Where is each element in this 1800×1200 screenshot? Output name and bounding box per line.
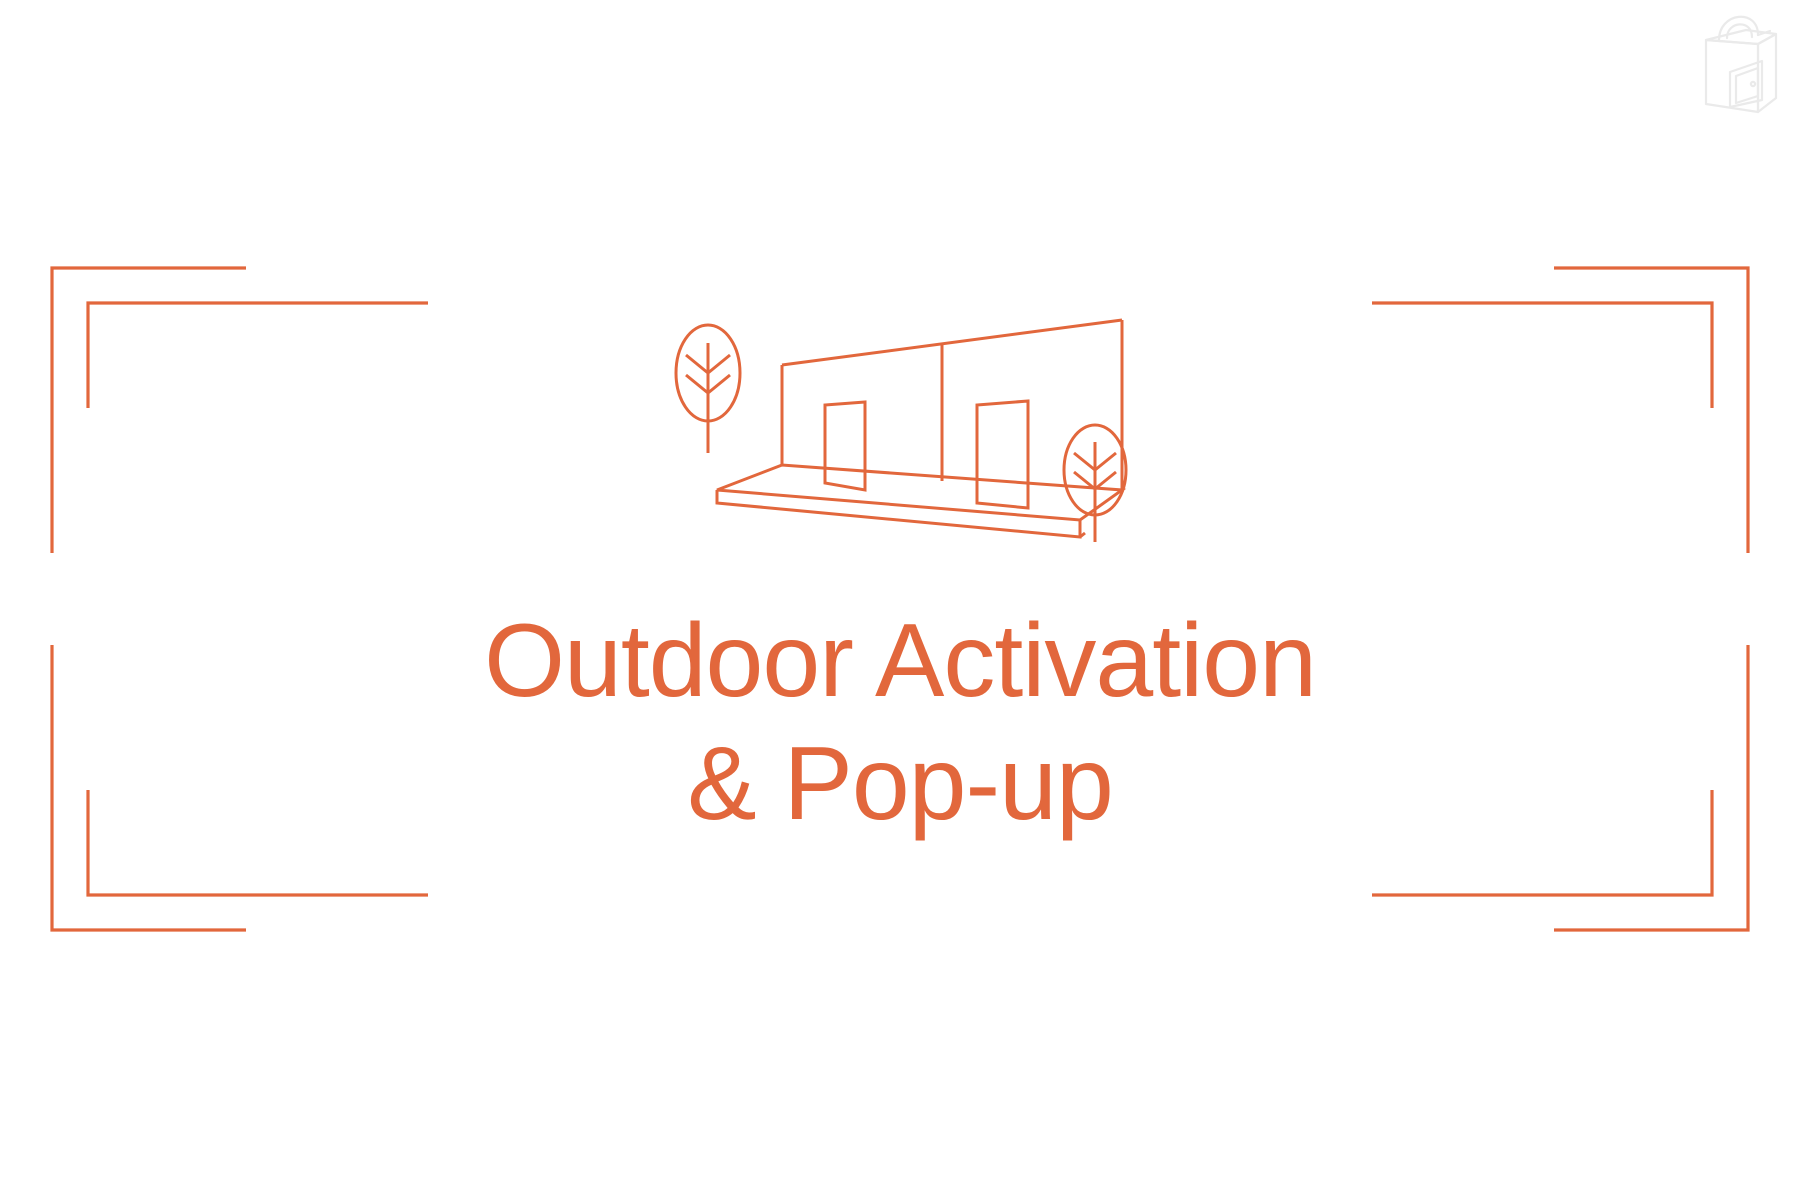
shopping-bag-door-logo — [1686, 4, 1792, 114]
sidewalk-front-edge — [717, 490, 1080, 537]
storefront-facade-illustration — [660, 305, 1160, 555]
page-title: Outdoor Activation & Pop-up — [0, 600, 1800, 845]
left-doorway — [825, 402, 865, 490]
bracket-top-right-inner — [1372, 303, 1712, 408]
tree-right-branch-1a — [1074, 453, 1095, 470]
tree-left-branch-2b — [708, 375, 730, 393]
bracket-top-left-inner — [88, 303, 428, 408]
right-doorway — [977, 401, 1028, 508]
title-line-2: & Pop-up — [0, 723, 1800, 846]
tree-right — [1064, 425, 1126, 542]
slide-root: Outdoor Activation & Pop-up — [0, 0, 1800, 1200]
tree-left-branch-1a — [686, 355, 708, 373]
facade-top-edge — [782, 320, 1122, 365]
bag-door-knob — [1751, 82, 1755, 86]
tree-left-branch-2a — [686, 375, 708, 393]
tree-left — [676, 325, 740, 453]
bracket-top-left-outer — [52, 268, 246, 553]
tree-right-branch-2b — [1095, 472, 1116, 489]
sidewalk-top-surface — [717, 465, 1122, 520]
tree-right-branch-1b — [1095, 453, 1116, 470]
bracket-top-right-outer — [1554, 268, 1748, 553]
title-line-1: Outdoor Activation — [0, 600, 1800, 723]
tree-left-branch-1b — [708, 355, 730, 373]
bag-front-face — [1706, 40, 1758, 112]
